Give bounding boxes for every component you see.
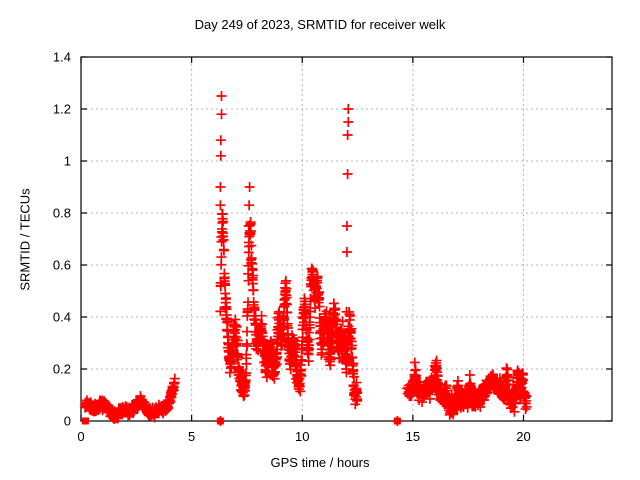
plot-canvas: 00.20.40.60.811.21.4 05101520 [0, 0, 640, 480]
chart-figure: Day 249 of 2023, SRMTID for receiver wel… [0, 0, 640, 480]
svg-text:0.2: 0.2 [53, 362, 71, 377]
svg-text:0.4: 0.4 [53, 310, 71, 325]
svg-text:15: 15 [406, 429, 420, 444]
svg-text:0.6: 0.6 [53, 258, 71, 273]
y-tick-labels: 00.20.40.60.811.21.4 [53, 50, 71, 429]
svg-text:0: 0 [64, 414, 71, 429]
svg-text:0: 0 [77, 429, 84, 444]
svg-text:10: 10 [295, 429, 309, 444]
svg-text:5: 5 [188, 429, 195, 444]
svg-text:0.8: 0.8 [53, 206, 71, 221]
svg-text:1.4: 1.4 [53, 50, 71, 65]
x-tick-labels: 05101520 [77, 429, 530, 444]
svg-text:20: 20 [516, 429, 530, 444]
scatter-series-srmtid [80, 91, 532, 426]
svg-text:1: 1 [64, 154, 71, 169]
svg-text:1.2: 1.2 [53, 102, 71, 117]
